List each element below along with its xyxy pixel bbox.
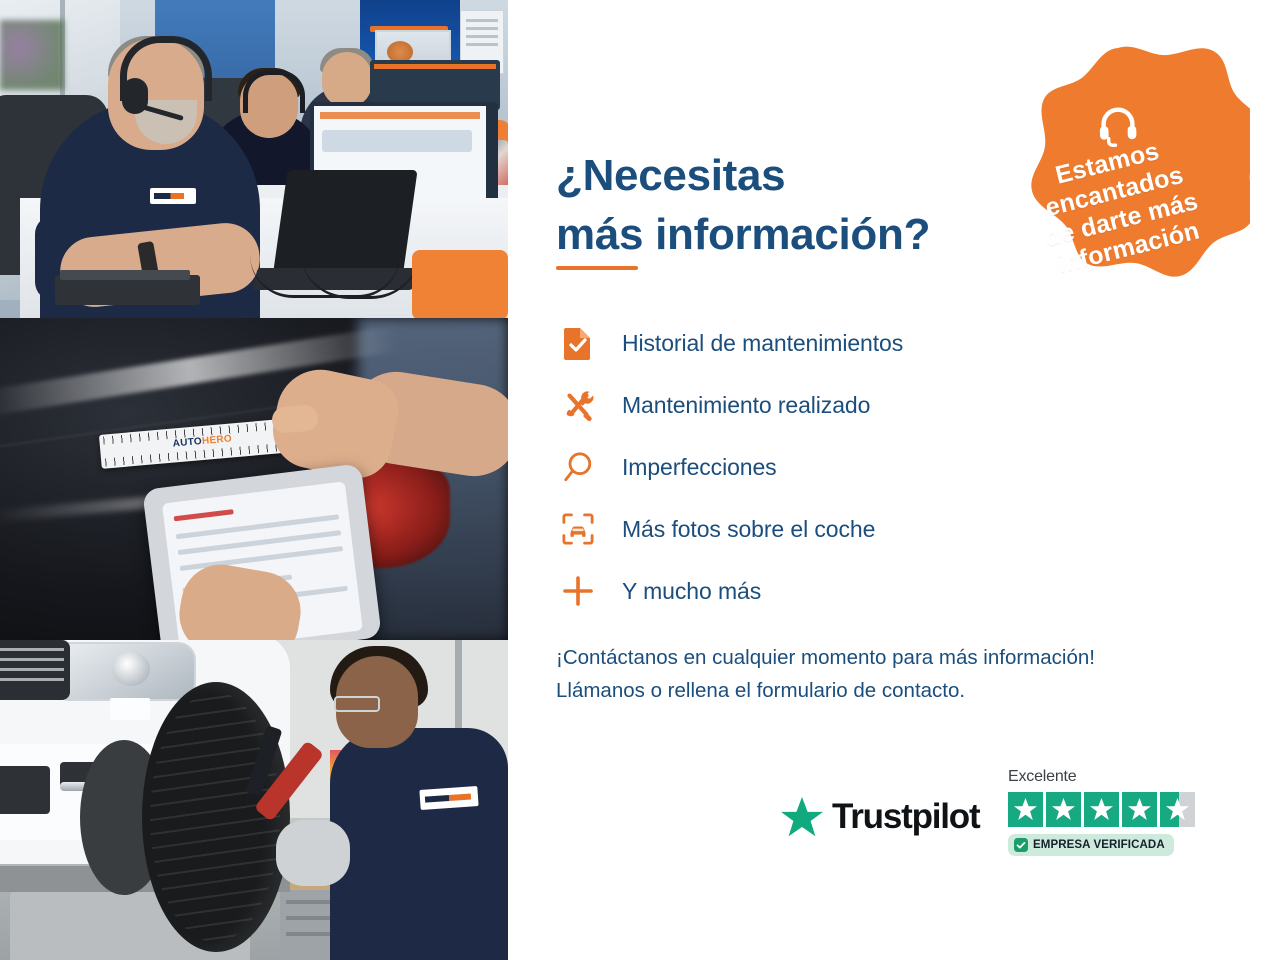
car-inspection-ruler-photo: AUTOHERO [0,318,508,640]
trustpilot-star [1084,792,1119,827]
feature-item-much-more: Y mucho más [556,560,1116,622]
feature-list: Historial de mantenimientos Mantenimient… [556,312,1116,622]
trustpilot-star [1008,792,1043,827]
help-badge: Estamos encantados de darte más informac… [986,44,1250,316]
trustpilot-brand: Trustpilot [832,797,979,837]
trustpilot-logo[interactable]: Trustpilot [780,796,979,838]
tools-wrench-screwdriver-icon [556,383,600,427]
call-center-agents-photo [0,0,508,318]
content-panel: ¿Necesitas más información? Estamos enca… [508,0,1280,960]
verified-company-label: EMPRESA VERIFICADA [1033,839,1165,851]
feature-label: Más fotos sobre el coche [622,516,875,543]
contact-text: ¡Contáctanos en cualquier momento para m… [556,641,1236,707]
photo-column: AUTOHERO [0,0,508,960]
document-check-icon [556,321,600,365]
trustpilot-star [1160,792,1195,827]
verified-check-icon [1014,838,1028,852]
contact-line-1: ¡Contáctanos en cualquier momento para m… [556,641,1236,674]
title-divider [556,266,638,270]
page-title-line-1: ¿Necesitas [556,151,785,200]
feature-item-maintenance-done: Mantenimiento realizado [556,374,1116,436]
trustpilot-block: Trustpilot Excelente EMPRESA VERIFICADA [780,768,1200,883]
magnifier-icon [556,445,600,489]
car-viewfinder-icon [556,507,600,551]
plus-icon [556,569,600,613]
feature-item-more-photos: Más fotos sobre el coche [556,498,1116,560]
page-title: ¿Necesitas más información? [556,147,986,264]
trustpilot-star-icon [780,796,824,838]
feature-label: Imperfecciones [622,454,777,481]
verified-company-badge: EMPRESA VERIFICADA [1008,834,1174,856]
trustpilot-rating-label: Excelente [1008,768,1200,786]
feature-label: Y mucho más [622,578,761,605]
mechanic-wheel-photo [0,640,508,960]
headlight [62,642,196,701]
page-title-line-2: más información? [556,210,930,259]
promo-page: AUTOHERO [0,0,1280,960]
trustpilot-stars [1008,792,1200,827]
feature-label: Mantenimiento realizado [622,392,870,419]
contact-line-2: Llámanos o rellena el formulario de cont… [556,674,1236,707]
feature-item-maintenance-history: Historial de mantenimientos [556,312,1116,374]
feature-label: Historial de mantenimientos [622,330,903,357]
trustpilot-star [1046,792,1081,827]
mechanic-body [330,728,508,960]
feature-item-imperfections: Imperfecciones [556,436,1116,498]
badge-text: Estamos encantados de darte más informac… [992,122,1243,290]
trustpilot-star [1122,792,1157,827]
